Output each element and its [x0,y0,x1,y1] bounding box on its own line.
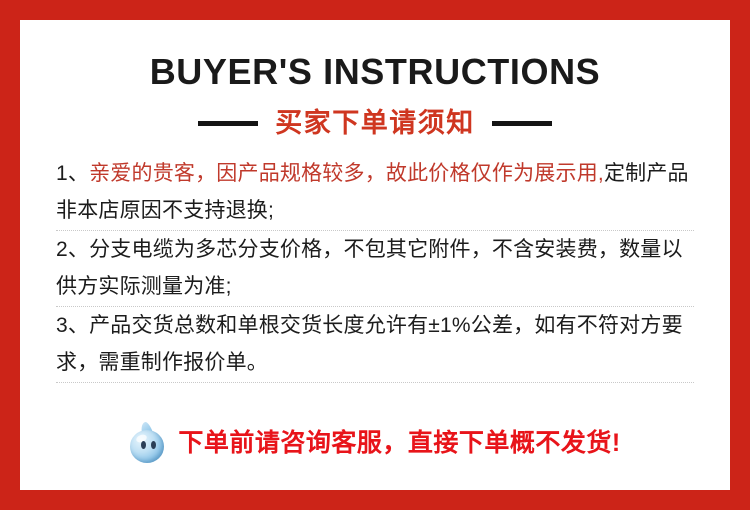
item-segment-black-3: 产品交货总数和单根交货长度允许有±1%公差，如有不符对方要求，需重制作报价单。 [56,314,683,374]
separator-3 [56,382,694,383]
footer-warning-text: 下单前请咨询客服，直接下单概不发货! [178,428,620,458]
water-drop-face-icon [129,422,167,464]
list-item: 2、分支电缆为多芯分支价格，不包其它附件，不含安装费，数量以供方实际测量为准; [56,231,694,305]
item-number-3: 3、 [56,314,89,337]
right-rule-divider [492,121,552,126]
item-number-2: 2、 [56,238,89,261]
instructions-list: 1、亲爱的贵客，因产品规格较多，故此价格仅作为展示用,定制产品非本店原因不支持退… [20,155,730,383]
list-item: 1、亲爱的贵客，因产品规格较多，故此价格仅作为展示用,定制产品非本店原因不支持退… [56,155,694,229]
instruction-text-2: 2、分支电缆为多芯分支价格，不包其它附件，不含安装费，数量以供方实际测量为准; [56,231,694,305]
left-rule-divider [198,121,258,126]
water-drop-body-icon [130,430,164,463]
item-segment-red-1: 亲爱的贵客，因产品规格较多，故此价格仅作为展示用, [89,162,604,185]
footer-callout: 下单前请咨询客服，直接下单概不发货! [20,422,730,464]
list-item: 3、产品交货总数和单根交货长度允许有±1%公差，如有不符对方要求，需重制作报价单… [56,307,694,381]
poster-frame: BUYER'S INSTRUCTIONS 买家下单请须知 1、亲爱的贵客，因产品… [0,0,750,510]
instruction-text-3: 3、产品交货总数和单根交货长度允许有±1%公差，如有不符对方要求，需重制作报价单… [56,307,694,381]
page-title: BUYER'S INSTRUCTIONS [20,20,730,93]
instruction-text-1: 1、亲爱的贵客，因产品规格较多，故此价格仅作为展示用,定制产品非本店原因不支持退… [56,155,694,229]
item-number-1: 1、 [56,162,89,185]
poster-inner: BUYER'S INSTRUCTIONS 买家下单请须知 1、亲爱的贵客，因产品… [20,20,730,490]
item-segment-black-2: 分支电缆为多芯分支价格，不包其它附件，不含安装费，数量以供方实际测量为准; [56,238,683,298]
subtitle-text: 买家下单请须知 [275,107,475,139]
subtitle-row: 买家下单请须知 [20,107,730,139]
